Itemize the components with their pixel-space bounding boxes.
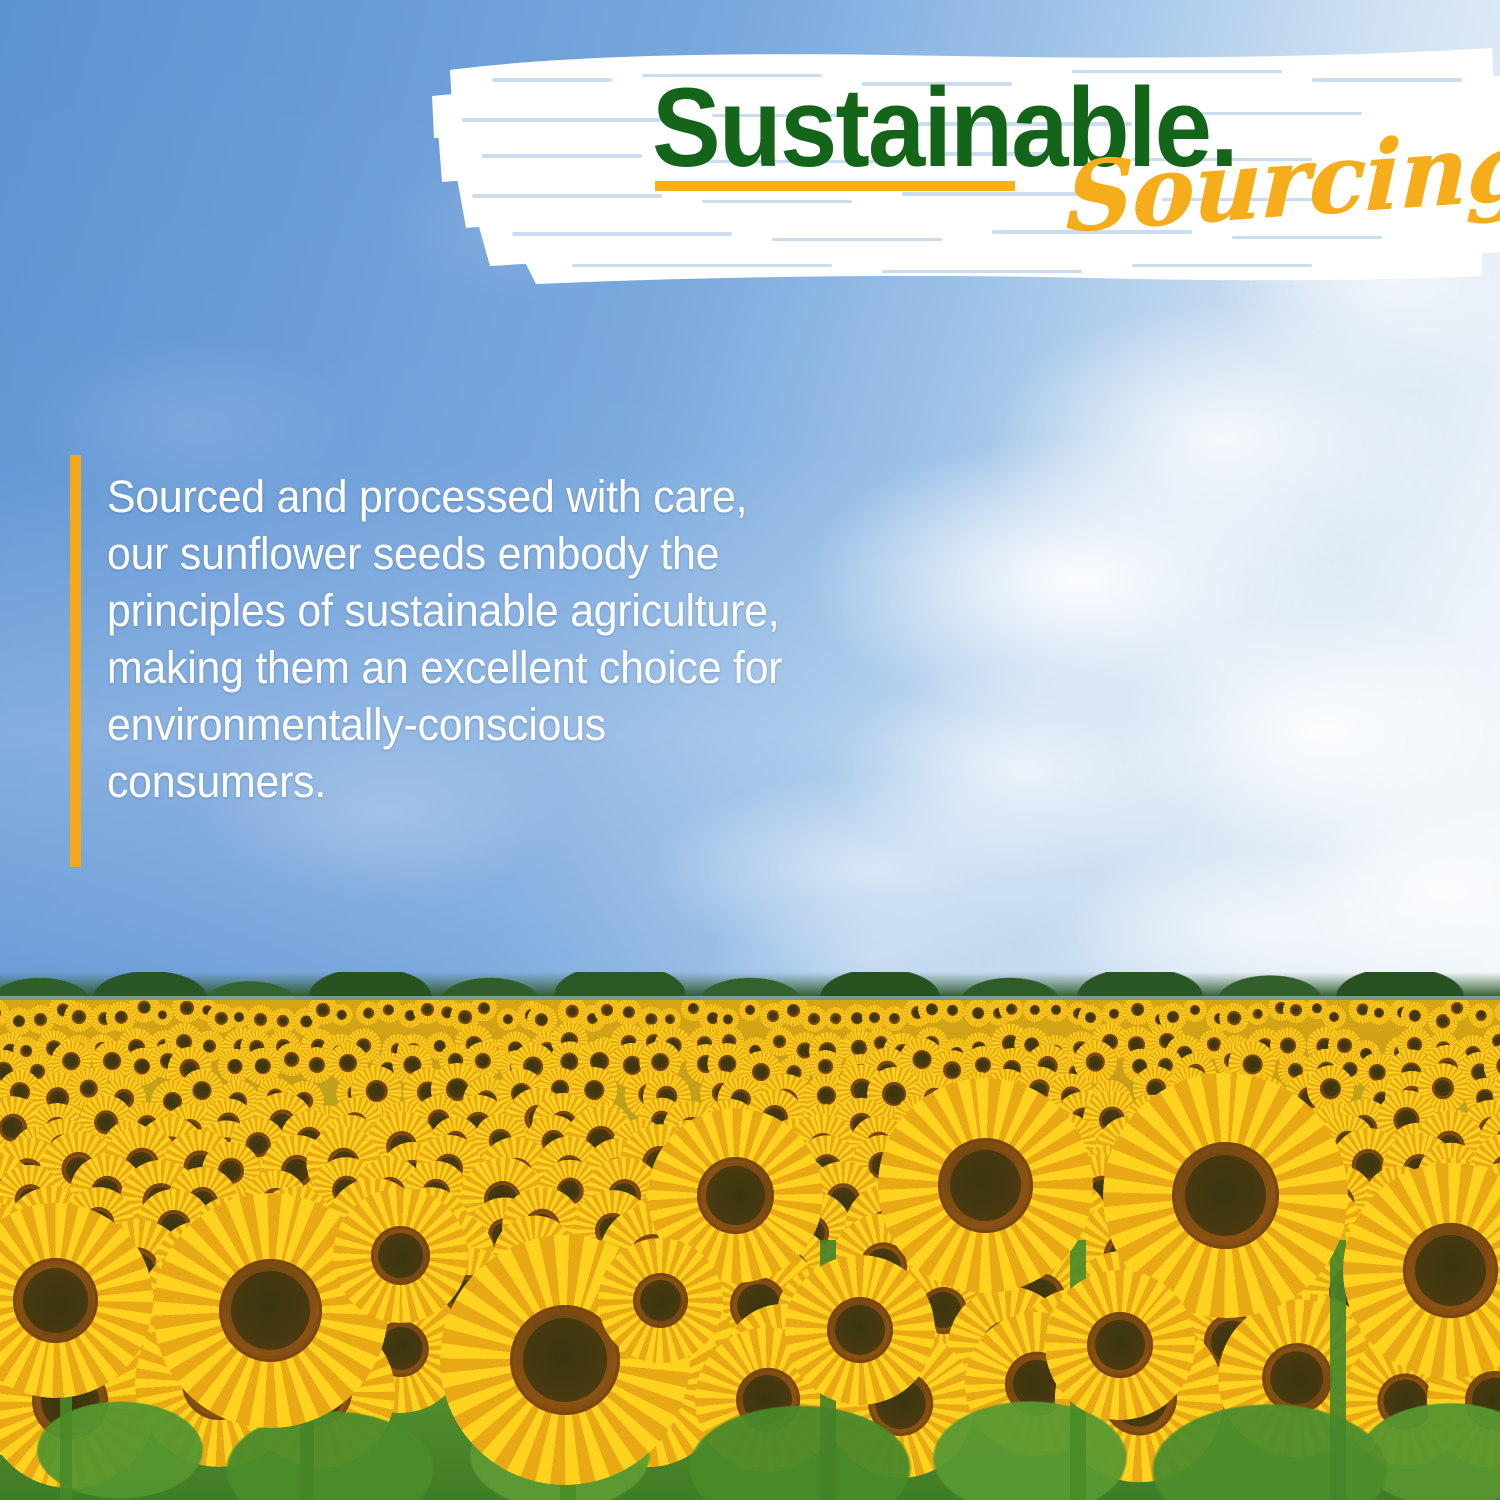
promo-banner: Sustainable. Sourcing Sourced and proces… [0,0,1500,1500]
sunflower-disc [786,1003,800,1017]
accent-bar [70,455,81,867]
script-subtitle: Sourcing [1065,117,1500,246]
sunflower-head [938,1000,966,1025]
sunflower-head [152,1003,174,1025]
sunflower-field [0,1000,1500,1500]
sunflower-head [1246,1003,1270,1027]
sunflower-head [1367,1001,1391,1025]
title-underline-rule [655,181,1015,191]
body-paragraph: Sourced and processed with care, our sun… [107,468,791,810]
sunflower-disc [370,1225,430,1285]
sunflower-disc [772,1034,786,1048]
sunflower-disc [1280,1037,1296,1053]
sunflower-head [331,1186,468,1323]
